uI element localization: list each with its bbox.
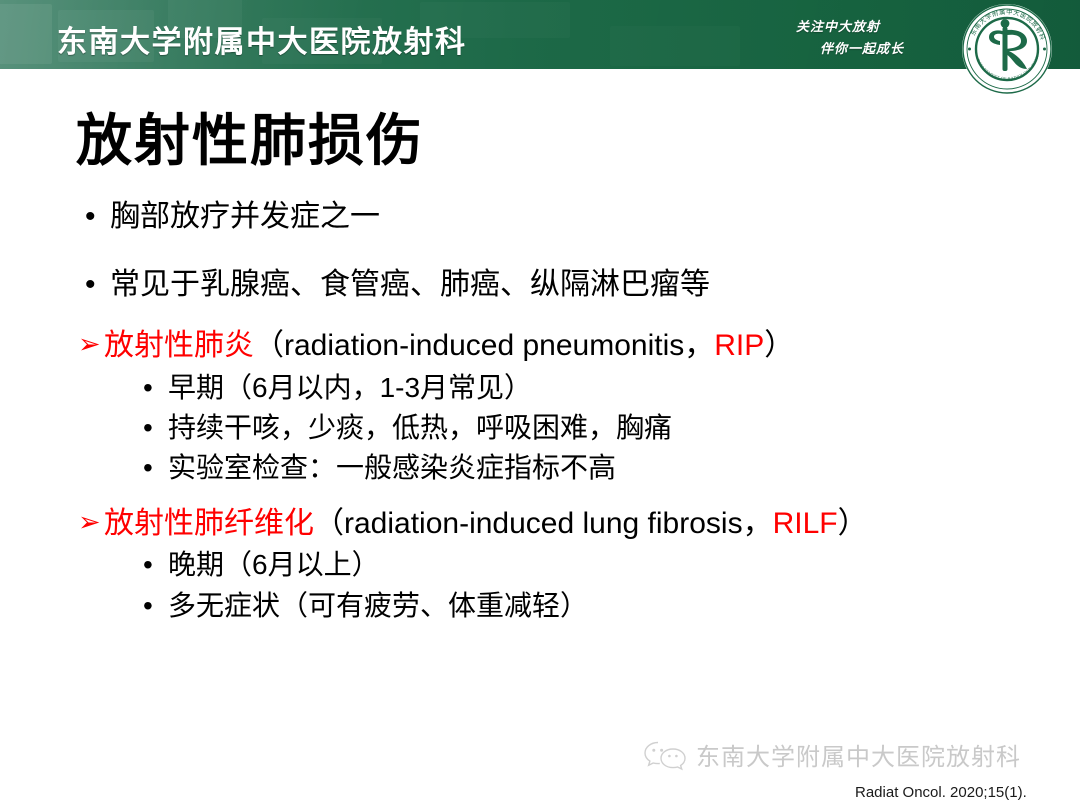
section-heading-english: radiation-induced lung fibrosis， <box>344 507 773 540</box>
spacer <box>0 303 1080 327</box>
bullet-marker: • <box>143 411 153 445</box>
section-heading-english: radiation-induced pneumonitis， <box>284 329 714 362</box>
spacer <box>0 236 1080 266</box>
list-item: • 胸部放疗并发症之一 <box>0 198 1080 236</box>
section-heading-rilf: ➢ 放射性肺纤维化（radiation-induced lung fibrosi… <box>0 505 1080 543</box>
section-paren-close: ） <box>764 329 794 362</box>
bullet-marker: • <box>143 371 153 405</box>
list-item-label: 晚期（6月以上） <box>168 549 380 580</box>
list-item-label: 胸部放疗并发症之一 <box>110 200 380 233</box>
slogan-line-2: 伴你一起成长 <box>792 38 952 60</box>
section-heading-chinese: 放射性肺炎 <box>104 329 254 362</box>
list-item-label: 早期（6月以内，1-3月常见） <box>168 372 532 403</box>
slogan-line-1: 关注中大放射 <box>792 16 952 38</box>
list-item: • 多无症状（可有疲劳、体重减轻） <box>0 589 1080 623</box>
section-heading-abbr: RILF <box>773 507 838 540</box>
bullet-marker: • <box>85 266 96 304</box>
list-item-label: 多无症状（可有疲劳、体重减轻） <box>168 590 588 621</box>
bullet-marker: • <box>143 451 153 485</box>
section-paren-open: （ <box>254 329 284 362</box>
wechat-account-name: 东南大学附属中大医院放射科 <box>696 737 1021 772</box>
wechat-logo-icon <box>643 738 687 772</box>
list-item-label: 常见于乳腺癌、食管癌、肺癌、纵隔淋巴瘤等 <box>110 268 710 301</box>
department-title: 东南大学附属中大医院放射科 <box>57 17 467 61</box>
source-citation: Radiat Oncol. 2020;15(1). <box>855 784 1027 801</box>
section-heading-chinese: 放射性肺纤维化 <box>104 507 314 540</box>
bullet-marker: • <box>143 548 153 582</box>
slide-body: • 胸部放疗并发症之一 • 常见于乳腺癌、食管癌、肺癌、纵隔淋巴瘤等 ➢ 放射性… <box>0 198 1080 623</box>
arrow-marker-icon: ➢ <box>78 506 101 540</box>
section-paren-close: ） <box>838 507 868 540</box>
list-item: • 常见于乳腺癌、食管癌、肺癌、纵隔淋巴瘤等 <box>0 266 1080 304</box>
banner-texture-shape <box>0 4 52 64</box>
page-title: 放射性肺损伤 <box>76 96 424 177</box>
header-slogan: 关注中大放射 伴你一起成长 <box>792 16 952 60</box>
section-heading-abbr: RIP <box>714 329 764 362</box>
list-item: • 实验室检查：一般感染炎症指标不高 <box>0 451 1080 485</box>
bullet-marker: • <box>85 198 96 236</box>
section-paren-open: （ <box>314 507 344 540</box>
bullet-marker: • <box>143 589 153 623</box>
wechat-watermark: 东南大学附属中大医院放射科 <box>643 737 1021 772</box>
list-item: • 早期（6月以内，1-3月常见） <box>0 371 1080 405</box>
list-item-label: 持续干咳，少痰，低热，呼吸困难，胸痛 <box>168 412 672 443</box>
list-item-label: 实验室检查：一般感染炎症指标不高 <box>168 452 616 483</box>
radiology-department-seal-icon: 东南大学附属中大医院放射科 DEPARTMENT OF RADIOLOGY ZH… <box>961 3 1053 95</box>
banner-texture-shape <box>610 26 740 66</box>
spacer <box>0 485 1080 505</box>
list-item: • 持续干咳，少痰，低热，呼吸困难，胸痛 <box>0 411 1080 445</box>
section-heading-rip: ➢ 放射性肺炎（radiation-induced pneumonitis，RI… <box>0 327 1080 365</box>
list-item: • 晚期（6月以上） <box>0 548 1080 582</box>
arrow-marker-icon: ➢ <box>78 328 101 362</box>
